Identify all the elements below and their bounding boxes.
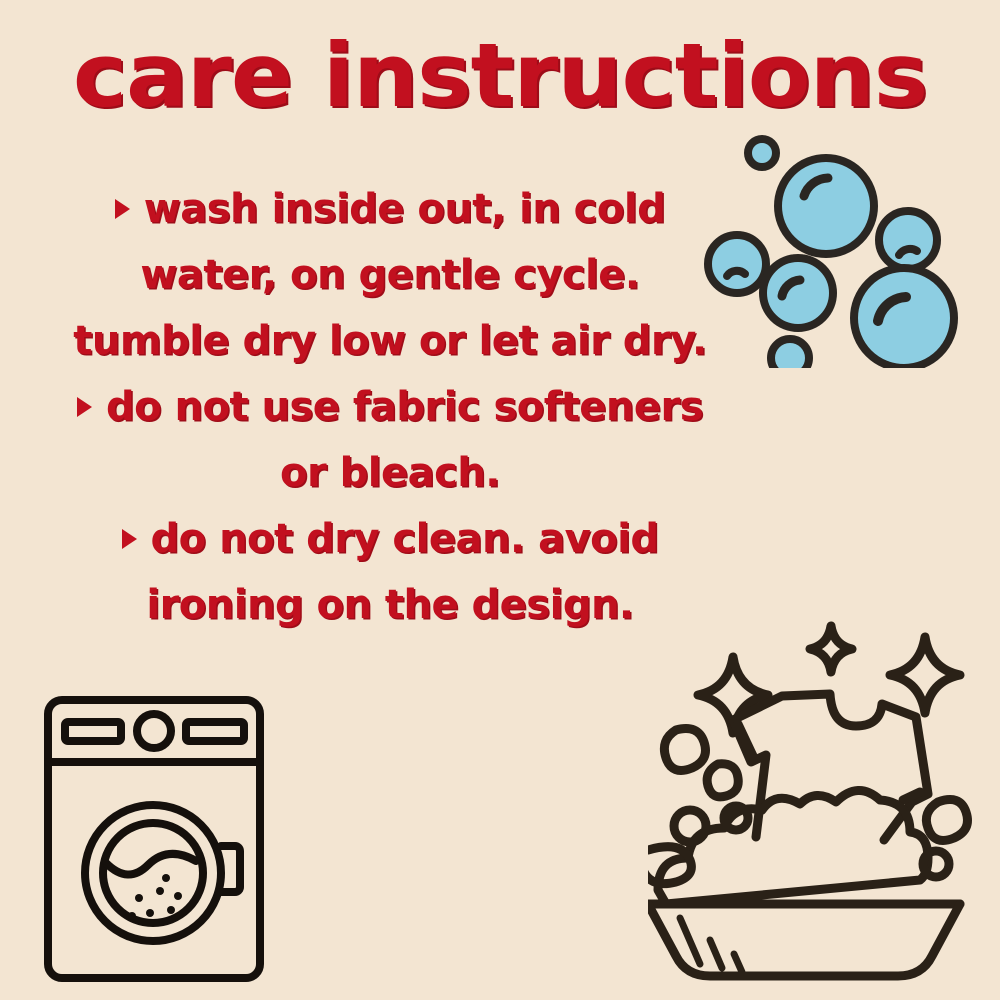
basin-shine-line	[734, 954, 742, 972]
water-droplet-icon	[923, 851, 949, 877]
bubble-icon	[771, 339, 809, 368]
list-item-label: do not use fabric softeners	[106, 387, 703, 427]
triangle-bullet-icon	[77, 397, 92, 417]
washer-knob-icon	[137, 714, 171, 748]
list-item: do not dry clean. avoid	[40, 506, 740, 572]
bubble-icon	[763, 258, 833, 328]
washing-machine-illustration	[38, 688, 288, 988]
list-item: or bleach.	[40, 440, 740, 506]
sparkle-icon	[890, 637, 960, 713]
list-item-label: tumble dry low or let air dry.	[73, 321, 706, 361]
instruction-list: wash inside out, in cold water, on gentl…	[40, 176, 740, 638]
soap-bubbles-illustration	[700, 118, 980, 368]
bubble-icon	[748, 139, 776, 167]
list-item-label: water, on gentle cycle.	[140, 255, 639, 295]
washer-slot-left	[65, 722, 121, 741]
list-item: do not use fabric softeners	[40, 374, 740, 440]
triangle-bullet-icon	[122, 529, 137, 549]
water-droplet-icon	[664, 729, 705, 771]
washer-water-wave	[106, 854, 196, 875]
list-item-label: or bleach.	[280, 453, 500, 493]
triangle-bullet-icon	[115, 199, 130, 219]
page-title: care instructions	[0, 32, 1000, 120]
bubble-icon	[854, 268, 954, 368]
list-item: water, on gentle cycle.	[40, 242, 740, 308]
bubble-icon	[879, 211, 937, 269]
list-item-label: wash inside out, in cold	[144, 189, 665, 229]
basin-shine-line	[710, 940, 722, 968]
water-droplet-icon	[926, 800, 967, 841]
t-shirt-icon	[733, 694, 928, 840]
basin-body	[648, 904, 960, 976]
list-item-label: ironing on the design.	[146, 585, 633, 625]
sparkle-icon	[810, 626, 852, 672]
list-item: tumble dry low or let air dry.	[40, 308, 740, 374]
water-droplet-icon	[674, 810, 706, 842]
bubble-icon	[778, 158, 874, 254]
basin-shine-line	[680, 918, 700, 964]
list-item-label: do not dry clean. avoid	[151, 519, 659, 559]
wash-basin-illustration	[648, 612, 993, 992]
care-instructions-poster: care instructions wash inside out, in co…	[0, 0, 1000, 1000]
bubble-icon	[708, 235, 766, 293]
list-item: ironing on the design.	[40, 572, 740, 638]
washer-slot-right	[186, 722, 244, 741]
washer-water-dots	[128, 874, 182, 920]
water-droplet-icon	[707, 764, 738, 797]
list-item: wash inside out, in cold	[40, 176, 740, 242]
